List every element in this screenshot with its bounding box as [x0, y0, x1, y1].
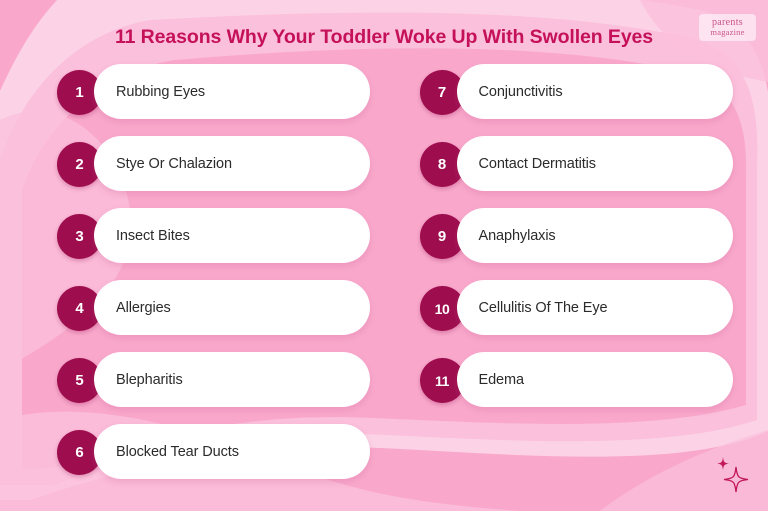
- item-label: Blocked Tear Ducts: [116, 444, 239, 460]
- item-card[interactable]: Insect Bites: [94, 208, 370, 263]
- item-card[interactable]: Allergies: [94, 280, 370, 335]
- list-item[interactable]: 2 Stye Or Chalazion: [57, 136, 370, 191]
- page-title: 11 Reasons Why Your Toddler Woke Up With…: [0, 26, 768, 49]
- item-label: Blepharitis: [116, 372, 183, 388]
- item-label: Contact Dermatitis: [479, 156, 596, 172]
- logo-line-magazine: magazine: [710, 28, 744, 37]
- item-label: Edema: [479, 372, 524, 388]
- list-item[interactable]: 9 Anaphylaxis: [420, 208, 733, 263]
- item-label: Anaphylaxis: [479, 228, 556, 244]
- list-item[interactable]: 3 Insect Bites: [57, 208, 370, 263]
- list-item[interactable]: 1 Rubbing Eyes: [57, 64, 370, 119]
- list-item[interactable]: 7 Conjunctivitis: [420, 64, 733, 119]
- item-card[interactable]: Blocked Tear Ducts: [94, 424, 370, 479]
- list-item[interactable]: 4 Allergies: [57, 280, 370, 335]
- reasons-column-left: 1 Rubbing Eyes 2 Stye Or Chalazion 3 Ins…: [0, 64, 406, 496]
- list-item[interactable]: 6 Blocked Tear Ducts: [57, 424, 370, 479]
- item-card[interactable]: Contact Dermatitis: [457, 136, 733, 191]
- sparkle-large-icon: [724, 467, 748, 492]
- reasons-columns: 1 Rubbing Eyes 2 Stye Or Chalazion 3 Ins…: [0, 64, 768, 496]
- parents-magazine-logo: parents magazine: [699, 14, 756, 41]
- item-card[interactable]: Edema: [457, 352, 733, 407]
- sparkle-small-icon: [717, 457, 729, 470]
- sparkle-decoration-group: [710, 455, 752, 493]
- item-card[interactable]: Rubbing Eyes: [94, 64, 370, 119]
- list-item[interactable]: 5 Blepharitis: [57, 352, 370, 407]
- item-label: Cellulitis Of The Eye: [479, 300, 608, 316]
- item-card[interactable]: Cellulitis Of The Eye: [457, 280, 733, 335]
- item-card[interactable]: Stye Or Chalazion: [94, 136, 370, 191]
- item-label: Stye Or Chalazion: [116, 156, 232, 172]
- item-card[interactable]: Blepharitis: [94, 352, 370, 407]
- infographic-canvas: 11 Reasons Why Your Toddler Woke Up With…: [0, 0, 768, 511]
- reasons-column-right: 7 Conjunctivitis 8 Contact Dermatitis 9 …: [406, 64, 768, 496]
- item-label: Conjunctivitis: [479, 84, 563, 100]
- item-label: Allergies: [116, 300, 171, 316]
- item-label: Rubbing Eyes: [116, 84, 205, 100]
- item-label: Insect Bites: [116, 228, 190, 244]
- list-item[interactable]: 11 Edema: [420, 352, 733, 407]
- item-card[interactable]: Anaphylaxis: [457, 208, 733, 263]
- list-item[interactable]: 8 Contact Dermatitis: [420, 136, 733, 191]
- list-item[interactable]: 10 Cellulitis Of The Eye: [420, 280, 733, 335]
- item-card[interactable]: Conjunctivitis: [457, 64, 733, 119]
